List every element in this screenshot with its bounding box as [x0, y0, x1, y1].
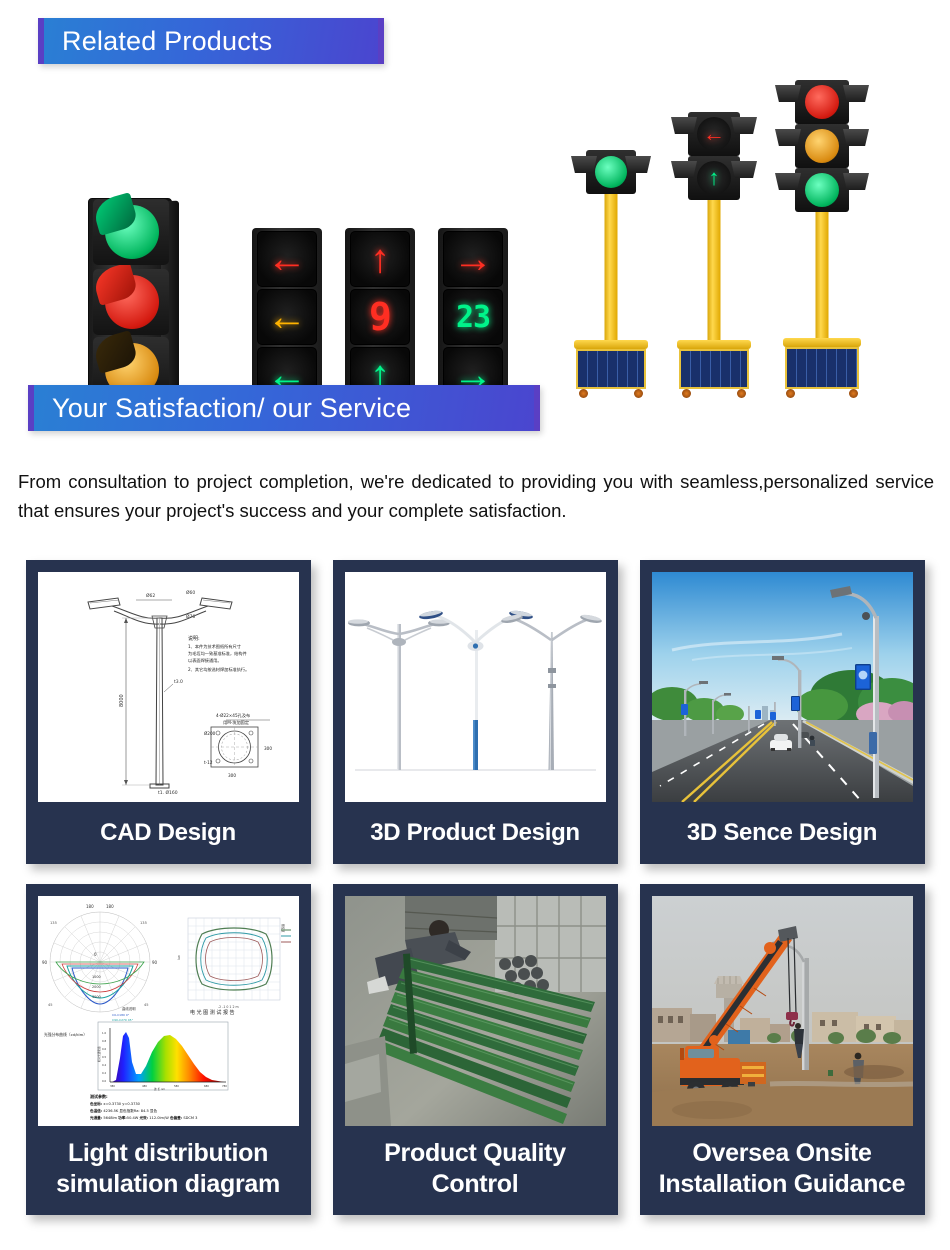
card-cad-design[interactable]: 8000 Ø62 Ø60 Ø76 t3.0 t1. Ø160 说明: 1、本件为… [26, 560, 311, 864]
red-lamp-icon [805, 85, 839, 119]
svg-text:8000: 8000 [119, 694, 125, 707]
card-caption: CAD Design [38, 802, 299, 864]
related-products-banner: Related Products [38, 18, 384, 64]
svg-text:580: 580 [174, 1084, 179, 1088]
svg-text:说明:: 说明: [188, 635, 200, 642]
svg-text:45: 45 [48, 1003, 53, 1007]
related-products-title: Related Products [62, 26, 272, 57]
svg-text:0.4: 0.4 [102, 1063, 106, 1067]
signal-head-red [795, 80, 849, 124]
svg-text:780: 780 [222, 1084, 227, 1088]
signal-head-green [795, 168, 849, 212]
card-3d-product-design[interactable]: 3D Product Design [333, 560, 618, 864]
svg-text:Ø76: Ø76 [186, 613, 195, 620]
right-sun-visor-icon [731, 117, 757, 134]
svg-text:波 长 nm: 波 长 nm [154, 1087, 165, 1091]
service-cards-row-2: 0 90 90 180 180 135 135 45 45 1000 2000 … [0, 884, 950, 1215]
yellow-pole [816, 212, 829, 340]
green-up-arrow-lamp: ↑ [697, 161, 731, 195]
factory-photo-icon [345, 896, 606, 1126]
svg-text:90: 90 [42, 960, 48, 965]
svg-text:C90-C270 45°: C90-C270 45° [112, 1018, 134, 1022]
countdown-display: 23 [456, 300, 490, 335]
cart-wheel [737, 389, 746, 398]
countdown-display: 9 [369, 295, 391, 339]
crane-install-photo-media [652, 896, 913, 1126]
up-arrow-icon: ↑ [370, 239, 390, 279]
svg-text:0.8: 0.8 [102, 1039, 106, 1043]
svg-text:为毛坘均一致基准标准，结构件: 为毛坘均一致基准标准，结构件 [188, 650, 247, 657]
svg-text:300: 300 [264, 746, 272, 751]
service-title: Your Satisfaction/ our Service [52, 393, 411, 424]
card-oversea-installation[interactable]: Oversea Onsite Installation Guidance [640, 884, 925, 1215]
right-sun-visor-icon [731, 161, 757, 178]
signal-head-amber [795, 124, 849, 168]
green-lamp-icon [805, 173, 839, 207]
svg-text:180: 180 [86, 904, 94, 909]
svg-text:电 光 图 测 试 报 告: 电 光 图 测 试 报 告 [190, 1009, 235, 1016]
svg-text:2、其它均按选材焊加标准执行。: 2、其它均按选材焊加标准执行。 [188, 666, 249, 673]
svg-text:0.0: 0.0 [102, 1079, 106, 1083]
cart-wheel [849, 389, 858, 398]
product-up-arrow-countdown-signal[interactable]: ↑ 9 ↑ [345, 228, 415, 406]
cart-frame [574, 340, 648, 349]
svg-text:-2 -1 0 1 2 m: -2 -1 0 1 2 m [218, 1005, 239, 1009]
signal-cell-green [93, 199, 169, 265]
aspect-amber-left-arrow: ← [257, 289, 317, 345]
related-products-gallery: ← ← ← ↑ 9 ↑ → 23 → [0, 80, 950, 365]
svg-text:300: 300 [228, 773, 236, 778]
road-scene-media [652, 572, 913, 802]
svg-text:Ø62: Ø62 [146, 592, 155, 599]
svg-text:曲线说明: 曲线说明 [122, 1006, 136, 1011]
cart-frame [783, 338, 861, 347]
svg-text:光通量: 5648lm 功率:50.4W 光效: 112: 光通量: 5648lm 功率:50.4W 光效: 112.0lm/W 色偏差: … [89, 1115, 197, 1120]
svg-text:色温值: 4236.5K 显色指数Ra: 84.5 显色: 色温值: 4236.5K 显色指数Ra: 84.5 显色 [90, 1108, 158, 1113]
light-distribution-diagram-icon: 0 90 90 180 180 135 135 45 45 1000 2000 … [38, 896, 299, 1126]
right-sun-visor-icon [625, 156, 651, 173]
svg-text:Ø200: Ø200 [204, 731, 216, 736]
svg-text:相对光谱能量: 相对光谱能量 [97, 1046, 101, 1062]
service-banner: Your Satisfaction/ our Service [28, 385, 540, 431]
cart-wheel [682, 389, 691, 398]
cart-wheel [579, 389, 588, 398]
photometric-charts-media: 0 90 90 180 180 135 135 45 45 1000 2000 … [38, 896, 299, 1126]
yellow-pole [708, 200, 721, 342]
left-sun-visor-icon [671, 117, 697, 134]
svg-text:t1. Ø160: t1. Ø160 [158, 789, 178, 796]
solar-panel [576, 349, 646, 389]
right-sun-visor-icon [843, 173, 869, 190]
left-arrow-icon: ← [267, 297, 307, 337]
cad-drawing-media: 8000 Ø62 Ø60 Ø76 t3.0 t1. Ø160 说明: 1、本件为… [38, 572, 299, 802]
aspect-red-up-arrow: ↑ [350, 231, 410, 287]
3d-poles-media [345, 572, 606, 802]
right-arrow-icon: → [453, 239, 493, 279]
card-caption: 3D Sence Design [652, 802, 913, 864]
product-solar-mobile-signal-double[interactable]: ← ↑ [668, 112, 760, 405]
svg-text:45: 45 [144, 1003, 149, 1007]
svg-text:135: 135 [140, 921, 147, 925]
aspect-red-right-arrow: → [443, 231, 503, 287]
product-solar-mobile-signal-single[interactable] [565, 150, 657, 405]
amber-lamp-icon [805, 129, 839, 163]
svg-text:0.5: 0.5 [102, 1055, 106, 1059]
svg-text:Ø60: Ø60 [186, 589, 195, 596]
svg-text:色坐标: x=0.3730 y=0.3730: 色坐标: x=0.3730 y=0.3730 [90, 1101, 141, 1106]
product-left-arrow-signal[interactable]: ← ← ← [252, 228, 322, 406]
svg-text:1、本件为技术图纸所有尺寸: 1、本件为技术图纸所有尺寸 [188, 643, 241, 650]
svg-text:照度值: 照度值 [281, 924, 285, 933]
svg-text:C0-C180 0°: C0-C180 0° [112, 1013, 130, 1017]
right-sun-visor-icon [843, 129, 869, 146]
cart-wheel [634, 389, 643, 398]
service-description: From consultation to project completion,… [18, 467, 934, 527]
svg-text:光强分布曲线（cd/klm）: 光强分布曲线（cd/klm） [44, 1032, 87, 1037]
card-product-quality-control[interactable]: Product Quality Control [333, 884, 618, 1215]
svg-text:90: 90 [152, 960, 158, 965]
product-solar-mobile-signal-triple[interactable] [772, 80, 872, 405]
road-scene-render-icon [652, 572, 913, 802]
aspect-red-left-arrow: ← [257, 231, 317, 287]
3d-poles-icon [345, 572, 606, 802]
right-sun-visor-icon [843, 85, 869, 102]
product-three-aspect-traffic-light[interactable] [88, 198, 172, 406]
svg-text:t3.0: t3.0 [174, 679, 183, 685]
left-sun-visor-icon [571, 156, 597, 173]
service-cards-grid: 8000 Ø62 Ø60 Ø76 t3.0 t1. Ø160 说明: 1、本件为… [0, 560, 950, 1215]
svg-text:用M-块加固定: 用M-块加固定 [223, 719, 249, 726]
cart-wheel [786, 389, 795, 398]
card-caption: Oversea Onsite Installation Guidance [652, 1126, 913, 1215]
solar-panel [785, 347, 859, 389]
cad-drawing-icon: 8000 Ø62 Ø60 Ø76 t3.0 t1. Ø160 说明: 1、本件为… [38, 572, 299, 802]
left-sun-visor-icon [775, 85, 801, 102]
left-sun-visor-icon [775, 129, 801, 146]
factory-photo-media [345, 896, 606, 1126]
svg-text:lux: lux [177, 955, 181, 960]
crane-install-photo-icon [652, 896, 913, 1126]
product-right-arrow-countdown-signal[interactable]: → 23 → [438, 228, 508, 406]
left-sun-visor-icon [671, 161, 697, 178]
svg-text:2000: 2000 [92, 985, 101, 989]
svg-text:480: 480 [142, 1084, 147, 1088]
svg-text:1000: 1000 [92, 975, 101, 979]
svg-text:4-Ø22×45孔及布: 4-Ø22×45孔及布 [216, 712, 250, 719]
card-caption: Light distribution simulation diagram [38, 1126, 299, 1215]
left-sun-visor-icon [775, 173, 801, 190]
left-arrow-icon: ← [267, 239, 307, 279]
card-caption: 3D Product Design [345, 802, 606, 864]
yellow-pole [605, 194, 618, 342]
svg-text:0.6: 0.6 [102, 1047, 106, 1051]
up-arrow-icon: ↑ [709, 165, 720, 191]
svg-text:180: 180 [106, 904, 114, 909]
card-caption: Product Quality Control [345, 1126, 606, 1215]
svg-text:380: 380 [110, 1084, 115, 1088]
left-arrow-icon: ← [703, 121, 725, 147]
svg-text:测试参数:: 测试参数: [90, 1093, 108, 1099]
card-light-distribution[interactable]: 0 90 90 180 180 135 135 45 45 1000 2000 … [26, 884, 311, 1215]
card-3d-sence-design[interactable]: 3D Sence Design [640, 560, 925, 864]
solar-panel [679, 349, 749, 389]
aspect-red-countdown: 9 [350, 289, 410, 345]
aspect-green-countdown: 23 [443, 289, 503, 345]
signal-cell-red [93, 269, 169, 335]
svg-text:3000: 3000 [92, 995, 101, 999]
red-left-arrow-lamp: ← [697, 117, 731, 151]
svg-text:0.2: 0.2 [102, 1071, 106, 1075]
svg-text:680: 680 [204, 1084, 209, 1088]
svg-text:135: 135 [50, 921, 57, 925]
svg-text:1.0: 1.0 [102, 1031, 106, 1035]
green-lamp-icon [595, 156, 627, 188]
service-cards-row-1: 8000 Ø62 Ø60 Ø76 t3.0 t1. Ø160 说明: 1、本件为… [0, 560, 950, 864]
svg-text:t-12: t-12 [204, 760, 213, 765]
svg-text:以表面焊接通用。: 以表面焊接通用。 [188, 657, 222, 664]
cart-frame [677, 340, 751, 349]
